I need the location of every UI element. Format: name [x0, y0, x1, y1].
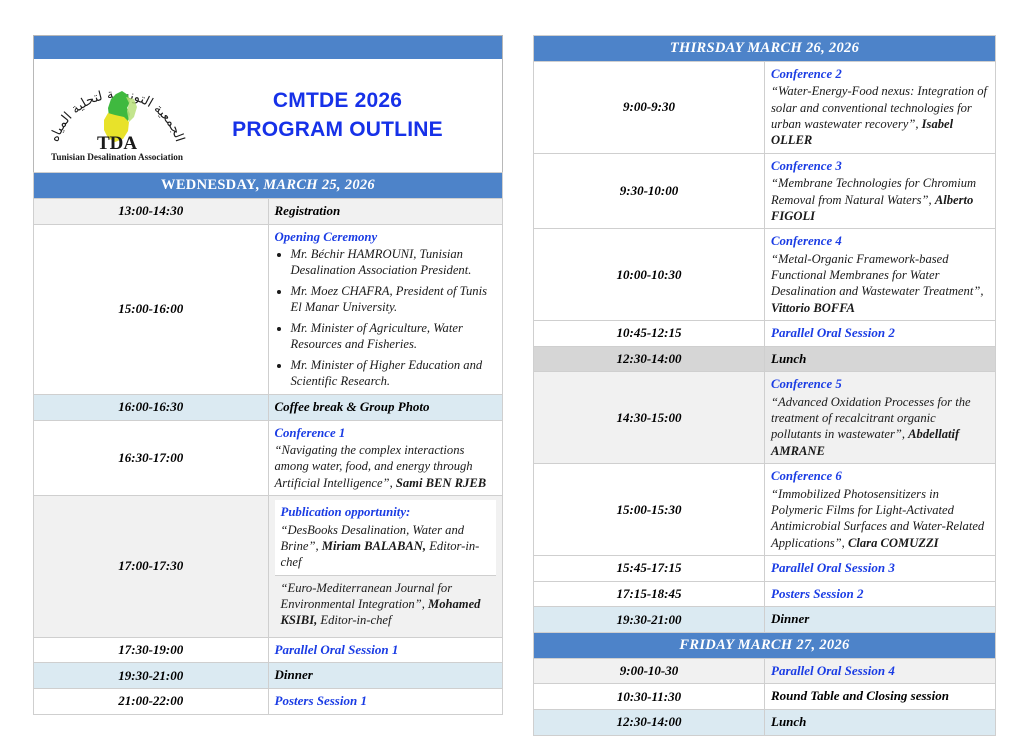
- table-row: 9:00-10-30 Parallel Oral Session 4: [534, 658, 996, 684]
- day-header-italic: THIRSDAY MARCH 26, 2026: [670, 40, 859, 56]
- conference-speaker: Vittorio BOFFA: [771, 301, 855, 315]
- session-label: Posters Session 1: [275, 693, 367, 708]
- wednesday-schedule-table: WEDNESDAY, MARCH 25, 2026 13:00-14:30 Re…: [33, 172, 503, 715]
- conference-body: “Metal-Organic Framework-based Functiona…: [771, 251, 989, 316]
- table-row: 13:00-14:30 Registration: [34, 199, 503, 225]
- row-detail: Conference 6 “Immobilized Photosensitize…: [765, 464, 996, 556]
- day-header-friday: FRIDAY MARCH 27, 2026: [534, 632, 996, 658]
- table-row: 17:15-18:45 Posters Session 2: [534, 581, 996, 607]
- publication-sub-row: Publication opportunity: “DesBooks Desal…: [275, 500, 497, 576]
- publication-text: “Euro-Mediterranean Journal for Environm…: [281, 581, 453, 611]
- row-label: Dinner: [771, 611, 809, 626]
- list-item: Mr. Moez CHAFRA, President of Tunis El M…: [291, 284, 497, 316]
- row-detail: Lunch: [765, 346, 996, 372]
- conference-body: “Advanced Oxidation Processes for the tr…: [771, 394, 989, 459]
- row-time: 16:30-17:00: [34, 420, 269, 495]
- program-outline-page: الجمعية التونسية لتحلية المياه TDA Tunis…: [0, 0, 1024, 724]
- list-item: Mr. Béchir HAMROUNI, Tunisian Desalinati…: [291, 247, 497, 279]
- day-header-bold: WEDNESDAY,: [161, 177, 259, 193]
- row-time: 9:30-10:00: [534, 153, 765, 228]
- row-time: 17:30-19:00: [34, 637, 269, 663]
- page-title: CMTDE 2026 PROGRAM OUTLINE: [199, 87, 502, 144]
- conference-title: Conference 6: [771, 468, 989, 484]
- logo-acronym-text: TDA: [96, 133, 136, 154]
- row-detail: Parallel Oral Session 1: [268, 637, 503, 663]
- row-detail: Round Table and Closing session: [765, 684, 996, 710]
- day-header-italic: FRIDAY MARCH 27, 2026: [679, 637, 849, 653]
- title-line-1: CMTDE 2026: [199, 87, 476, 115]
- table-row: 17:00-17:30 Publication opportunity: “De…: [34, 495, 503, 637]
- opening-ceremony-title: Opening Ceremony: [275, 229, 497, 245]
- list-item: Mr. Minister of Higher Education and Sci…: [291, 358, 497, 390]
- thursday-friday-schedule-table: THIRSDAY MARCH 26, 2026 9:00-9:30 Confer…: [533, 35, 996, 736]
- conference-speaker: Clara COMUZZI: [848, 536, 939, 550]
- row-time: 16:00-16:30: [34, 394, 269, 420]
- day-header-italic: MARCH 25, 2026: [263, 177, 375, 193]
- row-detail: Conference 3 “Membrane Technologies for …: [765, 153, 996, 228]
- session-label: Posters Session 2: [771, 586, 863, 601]
- row-time: 10:00-10:30: [534, 229, 765, 321]
- row-detail: Coffee break & Group Photo: [268, 394, 503, 420]
- row-label: Dinner: [275, 667, 313, 682]
- row-time: 10:45-12:15: [534, 321, 765, 347]
- row-time: 12:30-14:00: [534, 346, 765, 372]
- row-detail: Registration: [268, 199, 503, 225]
- left-column: الجمعية التونسية لتحلية المياه TDA Tunis…: [33, 35, 503, 715]
- table-row: 15:00-15:30 Conference 6 “Immobilized Ph…: [534, 464, 996, 556]
- table-row: 9:30-10:00 Conference 3 “Membrane Techno…: [534, 153, 996, 228]
- list-item: Mr. Minister of Agriculture, Water Resou…: [291, 321, 497, 353]
- conference-body-text: “Water-Energy-Food nexus: Integration of…: [771, 84, 987, 131]
- table-row: 19:30-21:00 Dinner: [534, 607, 996, 633]
- row-time: 19:30-21:00: [34, 663, 269, 689]
- row-time: 9:00-9:30: [534, 62, 765, 154]
- table-row: 10:45-12:15 Parallel Oral Session 2: [534, 321, 996, 347]
- row-time: 10:30-11:30: [534, 684, 765, 710]
- row-time: 19:30-21:00: [534, 607, 765, 633]
- session-label: Parallel Oral Session 1: [275, 642, 399, 657]
- day-header-thursday: THIRSDAY MARCH 26, 2026: [534, 36, 996, 62]
- row-label: Coffee break & Group Photo: [275, 399, 430, 414]
- row-label: Round Table and Closing session: [771, 688, 949, 703]
- conference-title: Conference 2: [771, 66, 989, 82]
- row-detail: Posters Session 2: [765, 581, 996, 607]
- conference-body: “Water-Energy-Food nexus: Integration of…: [771, 83, 989, 148]
- row-time: 17:15-18:45: [534, 581, 765, 607]
- conference-title: Conference 3: [771, 158, 989, 174]
- row-detail: Parallel Oral Session 3: [765, 555, 996, 581]
- tda-logo-icon: الجمعية التونسية لتحلية المياه TDA Tunis…: [42, 65, 192, 167]
- opening-ceremony-list: Mr. Béchir HAMROUNI, Tunisian Desalinati…: [275, 247, 497, 390]
- row-time: 15:45-17:15: [534, 555, 765, 581]
- row-detail: Conference 2 “Water-Energy-Food nexus: I…: [765, 62, 996, 154]
- conference-body-text: “Metal-Organic Framework-based Functiona…: [771, 252, 983, 299]
- wednesday-tbody: WEDNESDAY, MARCH 25, 2026 13:00-14:30 Re…: [34, 173, 503, 715]
- table-row: 10:00-10:30 Conference 4 “Metal-Organic …: [534, 229, 996, 321]
- thursday-friday-tbody: THIRSDAY MARCH 26, 2026 9:00-9:30 Confer…: [534, 36, 996, 736]
- conference-body: “Membrane Technologies for Chromium Remo…: [771, 175, 989, 224]
- session-label: Parallel Oral Session 3: [771, 560, 895, 575]
- day-header-row-wednesday: WEDNESDAY, MARCH 25, 2026: [34, 173, 503, 199]
- conference-title: Conference 1: [275, 425, 497, 441]
- row-detail: Dinner: [765, 607, 996, 633]
- row-detail: Publication opportunity: “DesBooks Desal…: [268, 495, 503, 637]
- conference-title: Conference 4: [771, 233, 989, 249]
- session-label: Parallel Oral Session 4: [771, 663, 895, 678]
- table-row: 9:00-9:30 Conference 2 “Water-Energy-Foo…: [534, 62, 996, 154]
- publication-title: Publication opportunity:: [281, 504, 491, 521]
- conference-body: “Immobilized Photosensitizers in Polymer…: [771, 486, 989, 551]
- table-row: 14:30-15:00 Conference 5 “Advanced Oxida…: [534, 372, 996, 464]
- row-label: Lunch: [771, 714, 806, 729]
- table-row: 15:00-16:00 Opening Ceremony Mr. Béchir …: [34, 224, 503, 394]
- row-label: Registration: [275, 203, 341, 218]
- row-time: 13:00-14:30: [34, 199, 269, 225]
- table-row: 21:00-22:00 Posters Session 1: [34, 688, 503, 714]
- row-time: 12:30-14:00: [534, 710, 765, 736]
- right-column: THIRSDAY MARCH 26, 2026 9:00-9:30 Confer…: [533, 35, 996, 736]
- session-label: Parallel Oral Session 2: [771, 325, 895, 340]
- table-row: 10:30-11:30 Round Table and Closing sess…: [534, 684, 996, 710]
- row-time: 9:00-10-30: [534, 658, 765, 684]
- table-row: 19:30-21:00 Dinner: [34, 663, 503, 689]
- row-detail: Lunch: [765, 710, 996, 736]
- row-time: 15:00-16:00: [34, 224, 269, 394]
- tda-logo: الجمعية التونسية لتحلية المياه TDA Tunis…: [34, 65, 199, 167]
- table-row: 15:45-17:15 Parallel Oral Session 3: [534, 555, 996, 581]
- row-detail: Opening Ceremony Mr. Béchir HAMROUNI, Tu…: [268, 224, 503, 394]
- day-header-row-friday: FRIDAY MARCH 27, 2026: [534, 632, 996, 658]
- day-header-wednesday: WEDNESDAY, MARCH 25, 2026: [34, 173, 503, 199]
- row-time: 14:30-15:00: [534, 372, 765, 464]
- row-detail: Parallel Oral Session 2: [765, 321, 996, 347]
- title-line-2: PROGRAM OUTLINE: [199, 116, 476, 144]
- row-detail: Parallel Oral Session 4: [765, 658, 996, 684]
- row-label: Lunch: [771, 351, 806, 366]
- conference-speaker: Sami BEN RJEB: [396, 476, 486, 490]
- row-detail: Conference 5 “Advanced Oxidation Process…: [765, 372, 996, 464]
- table-row: 17:30-19:00 Parallel Oral Session 1: [34, 637, 503, 663]
- row-time: 17:00-17:30: [34, 495, 269, 637]
- logo-subtitle-text: Tunisian Desalination Association: [51, 152, 183, 162]
- day-header-row-thursday: THIRSDAY MARCH 26, 2026: [534, 36, 996, 62]
- table-row: 16:00-16:30 Coffee break & Group Photo: [34, 394, 503, 420]
- conference-title: Conference 5: [771, 376, 989, 392]
- table-row: 16:30-17:00 Conference 1 “Navigating the…: [34, 420, 503, 495]
- row-time: 21:00-22:00: [34, 688, 269, 714]
- row-detail: Posters Session 1: [268, 688, 503, 714]
- conference-body: “Navigating the complex interactions amo…: [275, 442, 497, 491]
- row-time: 15:00-15:30: [534, 464, 765, 556]
- brand-header: الجمعية التونسية لتحلية المياه TDA Tunis…: [33, 59, 503, 172]
- row-detail: Conference 4 “Metal-Organic Framework-ba…: [765, 229, 996, 321]
- publication-role: Editor-in-chef: [317, 613, 391, 627]
- top-blue-bar: [33, 35, 503, 59]
- row-detail: Dinner: [268, 663, 503, 689]
- table-row: 12:30-14:00 Lunch: [534, 346, 996, 372]
- publication-editor: Miriam BALABAN,: [322, 539, 426, 553]
- publication-sub-row: “Euro-Mediterranean Journal for Environm…: [275, 576, 497, 633]
- table-row: 12:30-14:00 Lunch: [534, 710, 996, 736]
- row-detail: Conference 1 “Navigating the complex int…: [268, 420, 503, 495]
